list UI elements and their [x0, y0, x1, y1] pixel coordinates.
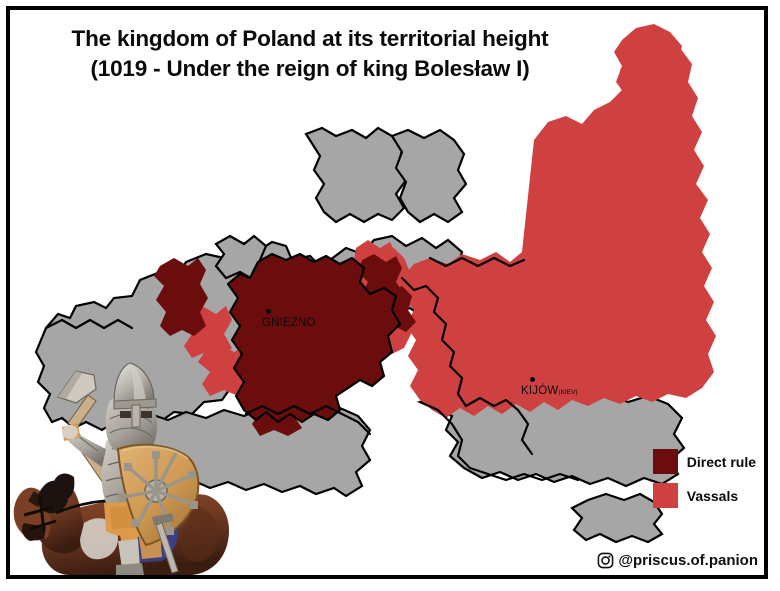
knight-helmet — [106, 363, 158, 455]
city-marker-dot — [266, 309, 271, 314]
mounted-knight-illustration — [10, 345, 236, 575]
city-name-primary: KIJÓW — [521, 385, 558, 397]
legend-row-vassals: Vassals — [653, 483, 756, 508]
city-name: KIJÓW(KIEV) — [521, 385, 578, 397]
legend-row-direct-rule: Direct rule — [653, 449, 756, 474]
land-north-pomerania — [306, 128, 406, 222]
rider-arm — [62, 423, 106, 467]
map-frame: The kingdom of Poland at its territorial… — [6, 6, 768, 579]
watermark: @priscus.of.panion — [597, 552, 758, 569]
city-name: GNIEZNO — [262, 317, 316, 329]
map-legend: Direct rule Vassals — [653, 449, 756, 517]
instagram-icon — [597, 552, 614, 569]
watermark-handle: @priscus.of.panion — [618, 552, 758, 569]
land-crimea — [572, 494, 662, 542]
legend-label: Vassals — [687, 488, 738, 504]
legend-label: Direct rule — [687, 454, 756, 470]
city-name-alt: (KIEV) — [558, 389, 577, 396]
map-canvas: The kingdom of Poland at its territorial… — [10, 10, 764, 575]
direct-rule-swatch — [653, 449, 678, 474]
city-marker-dot — [530, 377, 535, 382]
vassal-novgorod-north — [614, 24, 690, 164]
poland-pomerania-west-lobe — [154, 258, 208, 336]
vassals-swatch — [653, 483, 678, 508]
